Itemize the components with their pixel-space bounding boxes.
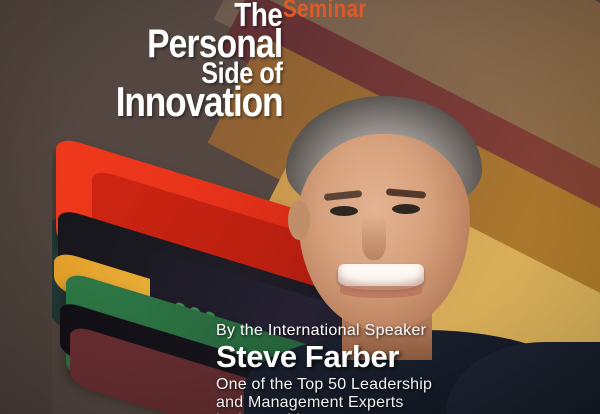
speaker-name: Steve Farber xyxy=(216,339,432,375)
title-line-innovation: Innovation xyxy=(115,83,282,121)
lower-lip xyxy=(340,286,422,298)
speaker-credit-block: By the International Speaker Steve Farbe… xyxy=(216,322,432,414)
ear xyxy=(288,200,310,240)
nose xyxy=(362,216,386,260)
seminar-poster: Seminar The Personal Side of Innovation … xyxy=(0,0,600,414)
seminar-eyebrow-label: Seminar xyxy=(283,0,367,24)
eye-left xyxy=(330,206,358,216)
poster-title: The Personal Side of Innovation xyxy=(84,0,282,120)
speaker-byline: By the International Speaker xyxy=(216,322,432,340)
speaker-credential-line-1: One of the Top 50 Leadership xyxy=(216,376,432,394)
eye-right xyxy=(392,204,420,214)
left-margin-strip xyxy=(0,0,52,414)
speaker-credential-line-2: and Management Experts xyxy=(216,394,432,412)
